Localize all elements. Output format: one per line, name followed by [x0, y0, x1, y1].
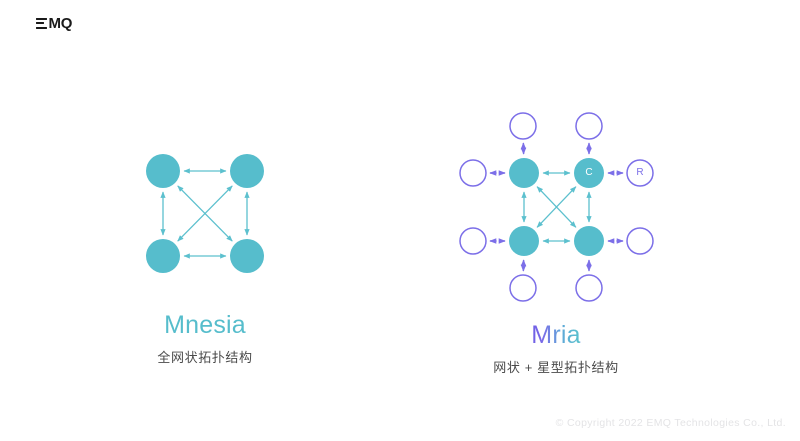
diagram-title-mria: Mria [531, 321, 580, 350]
node-mria-repl-right-top [627, 160, 653, 186]
node-mria-repl-bottom-left [510, 275, 536, 301]
node-mnesia-node-tl [146, 154, 180, 188]
node-mria-repl-bottom-right [576, 275, 602, 301]
nodes-layer [146, 113, 653, 301]
diagram-subtitle-mnesia: 全网状拓扑结构 [157, 347, 252, 366]
topology-diagram-canvas [0, 0, 800, 441]
node-mria-repl-left-bottom [460, 228, 486, 254]
node-mria-core-tr [574, 158, 604, 188]
node-mnesia-node-br [230, 239, 264, 273]
node-mria-repl-top-left [510, 113, 536, 139]
node-mria-repl-right-bottom [627, 228, 653, 254]
caption-mnesia: Mnesia 全网状拓扑结构 [157, 311, 252, 366]
node-mnesia-node-bl [146, 239, 180, 273]
node-mnesia-node-tr [230, 154, 264, 188]
copyright-footer: © Copyright 2022 EMQ Technologies Co., L… [556, 417, 786, 429]
diagram-subtitle-mria: 网状 + 星型拓扑结构 [493, 357, 618, 376]
diagram-title-mnesia: Mnesia [157, 311, 252, 340]
node-mria-repl-left-top [460, 160, 486, 186]
node-mria-core-bl [509, 226, 539, 256]
node-mria-core-br [574, 226, 604, 256]
node-mria-repl-top-right [576, 113, 602, 139]
node-mria-core-tl [509, 158, 539, 188]
caption-mria: Mria 网状 + 星型拓扑结构 [493, 321, 618, 376]
